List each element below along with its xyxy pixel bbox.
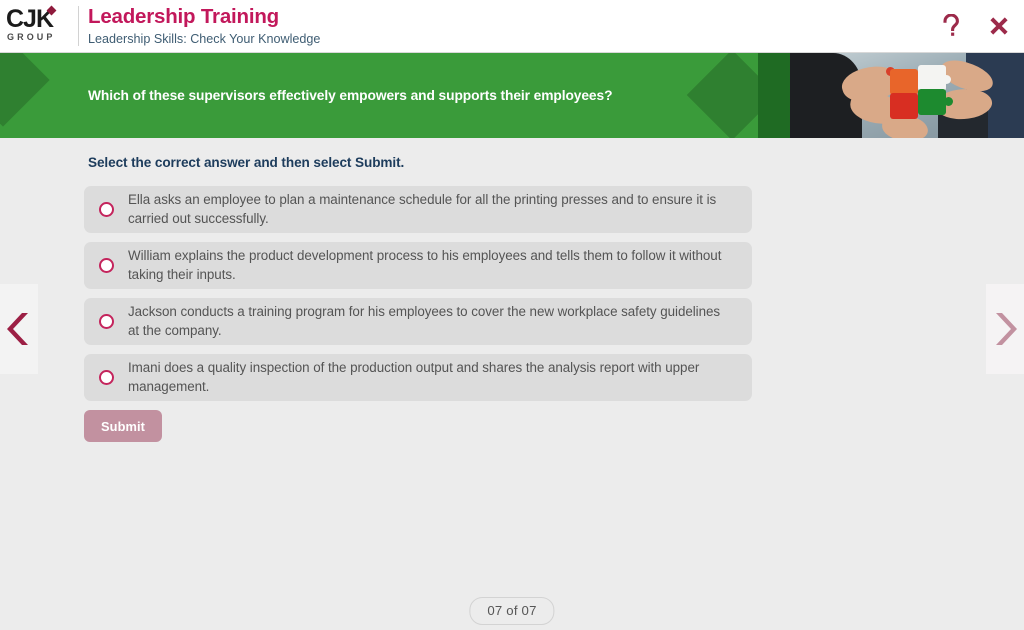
radio-button-icon[interactable] [99,258,114,273]
question-text: Which of these supervisors effectively e… [88,53,708,138]
puzzle-piece-white [918,65,946,91]
banner-chevron-left-decor [0,53,50,127]
cjk-group-logo: CJK GROUP [6,5,74,49]
close-icon[interactable] [986,12,1012,40]
radio-wrap-b[interactable] [84,258,128,273]
help-icon[interactable] [939,12,965,40]
answer-option-c[interactable]: Jackson conducts a training program for … [84,298,752,345]
puzzle-piece-red [890,93,918,119]
answer-option-label: Jackson conducts a training program for … [128,303,752,340]
instruction-text: Select the correct answer and then selec… [88,155,404,170]
page-indicator: 07 of 07 [469,597,554,625]
help-icon-glyph [941,14,963,38]
radio-button-icon[interactable] [99,370,114,385]
answer-option-a[interactable]: Ella asks an employee to plan a maintena… [84,186,752,233]
next-page-button[interactable] [986,284,1024,374]
answer-option-label: Imani does a quality inspection of the p… [128,359,752,396]
radio-wrap-c[interactable] [84,314,128,329]
radio-wrap-d[interactable] [84,370,128,385]
question-banner: Which of these supervisors effectively e… [0,53,1024,138]
chevron-right-icon [992,310,1018,348]
page-title: Leadership Training [88,4,320,30]
header-title-block: Leadership Training Leadership Skills: C… [88,4,320,47]
answer-option-label: Ella asks an employee to plan a maintena… [128,191,752,228]
close-icon-glyph [987,14,1011,38]
header-icon-group [939,12,1012,40]
puzzle-piece-green [918,89,946,115]
submit-button[interactable]: Submit [84,410,162,442]
answer-option-d[interactable]: Imani does a quality inspection of the p… [84,354,752,401]
page-subtitle: Leadership Skills: Check Your Knowledge [88,31,320,47]
app-header: CJK GROUP Leadership Training Leadership… [0,0,1024,53]
puzzle-piece-orange [890,69,918,95]
logo-subwordmark: GROUP [7,33,56,42]
puzzle-pieces-photo [790,53,1024,138]
previous-page-button[interactable] [0,284,38,374]
chevron-left-icon [6,310,32,348]
answer-option-label: William explains the product development… [128,247,752,284]
content-stage: Select the correct answer and then selec… [0,138,1024,630]
radio-button-icon[interactable] [99,202,114,217]
header-divider [78,6,79,46]
answer-option-b[interactable]: William explains the product development… [84,242,752,289]
radio-button-icon[interactable] [99,314,114,329]
radio-wrap-a[interactable] [84,202,128,217]
answer-options-list: Ella asks an employee to plan a maintena… [84,186,752,410]
